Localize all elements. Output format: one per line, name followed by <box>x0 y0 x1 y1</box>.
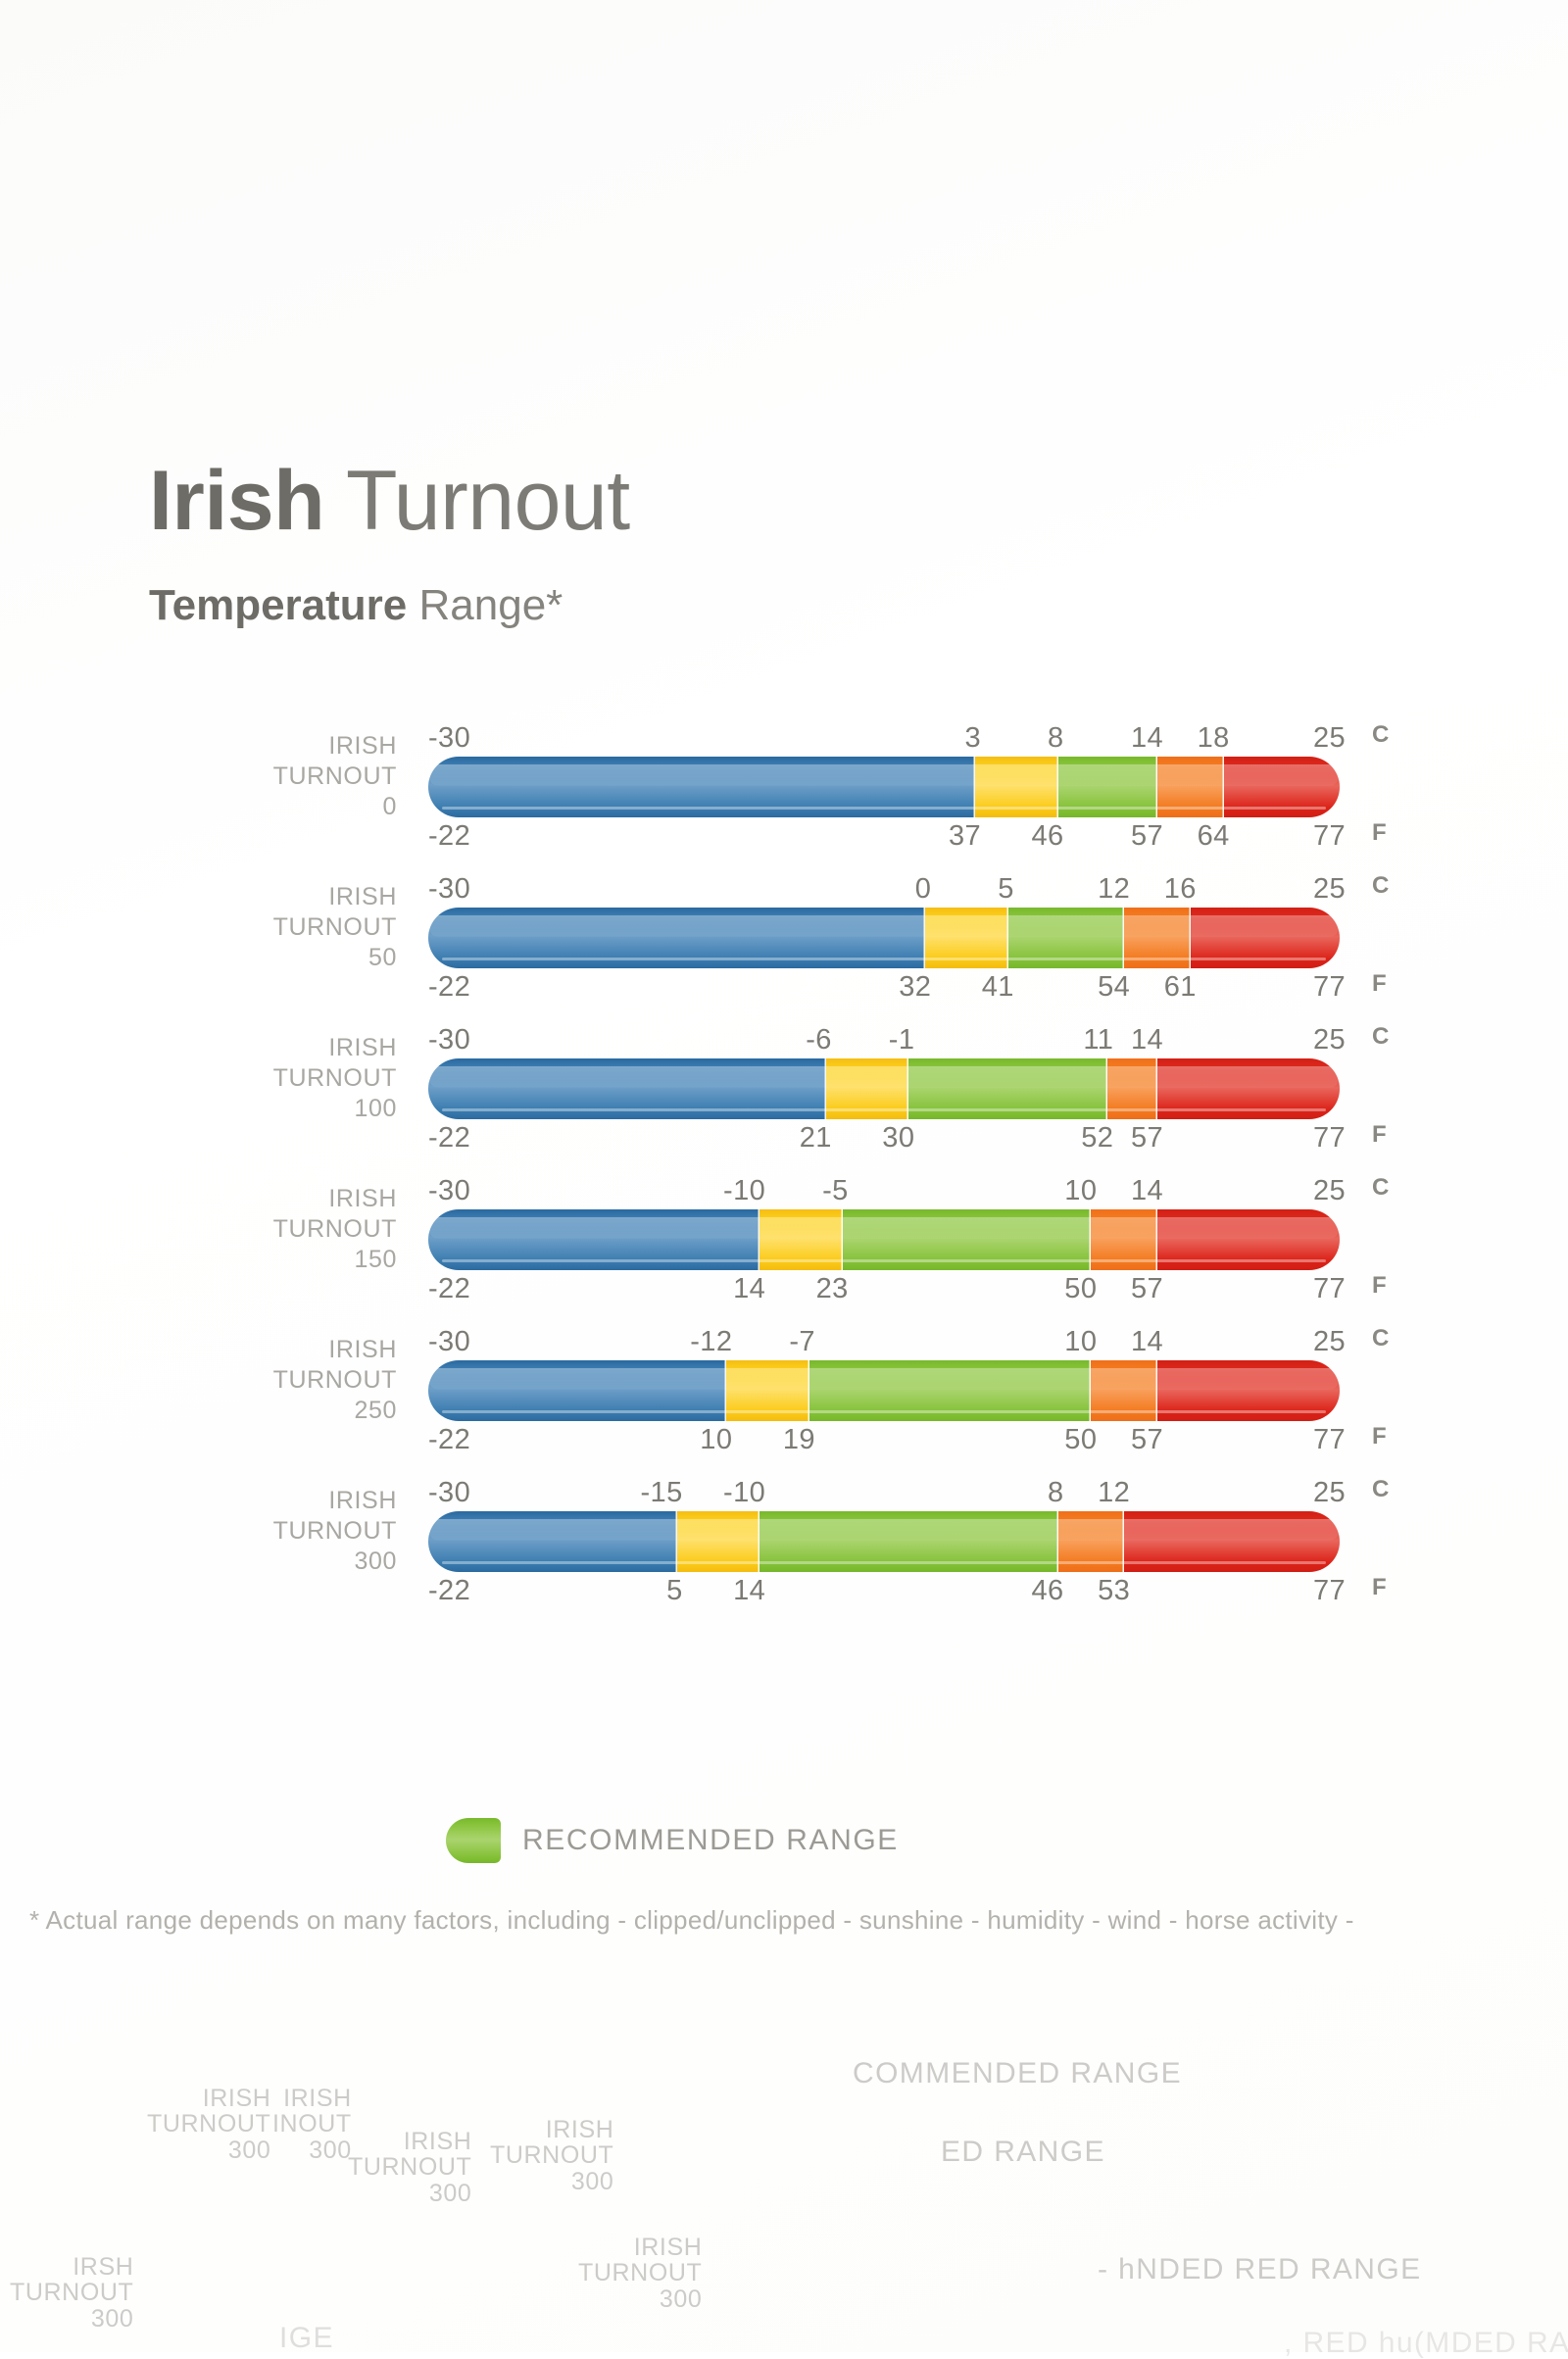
celsius-tick: -10 <box>723 1476 765 1509</box>
temperature-row: IRISHTURNOUT100-30-6-1111425-22213052577… <box>0 1023 1568 1174</box>
fahrenheit-tick: 32 <box>899 970 931 1004</box>
celsius-tick-row: -3005121625 <box>428 872 1340 906</box>
row-label-line: IRISH <box>103 1335 397 1365</box>
fahrenheit-tick: 41 <box>982 970 1014 1004</box>
bar-segment-yellow <box>759 1209 843 1270</box>
celsius-unit-marker: C <box>1372 721 1390 749</box>
bar-segment-red <box>1157 1058 1340 1119</box>
fahrenheit-tick-row: -223241546177 <box>428 970 1340 1004</box>
row-label-line: 150 <box>103 1245 397 1275</box>
ghost-text: IRSH TURNOUT 300 <box>10 2254 133 2332</box>
bar-segment-blue <box>428 757 975 817</box>
celsius-tick: 14 <box>1131 1174 1163 1207</box>
celsius-tick: 25 <box>1313 872 1346 906</box>
ghost-text: - hNDED RED RANGE <box>1098 2254 1422 2285</box>
fahrenheit-unit-marker: F <box>1372 1121 1387 1149</box>
row-label-line: IRISH <box>103 1184 397 1214</box>
fahrenheit-tick: 23 <box>816 1272 849 1305</box>
celsius-tick: -30 <box>428 1174 470 1207</box>
celsius-tick: 11 <box>1083 1023 1113 1057</box>
page-header: Irish Turnout Temperature Range* <box>149 459 630 627</box>
ghost-text: IRISH TURNOUT 300 <box>348 2129 471 2206</box>
row-label-line: IRISH <box>103 1033 397 1063</box>
row-label-line: 0 <box>103 792 397 822</box>
row-label-line: TURNOUT <box>103 1063 397 1094</box>
celsius-unit-marker: C <box>1372 1174 1390 1202</box>
fahrenheit-tick-row: -222130525777 <box>428 1121 1340 1155</box>
fahrenheit-tick: 54 <box>1098 970 1130 1004</box>
celsius-tick-row: -30-6-1111425 <box>428 1023 1340 1057</box>
fahrenheit-tick: 77 <box>1313 1574 1346 1607</box>
celsius-tick: 25 <box>1313 721 1346 755</box>
celsius-tick: 5 <box>998 872 1014 906</box>
temperature-row: IRISHTURNOUT250-30-12-7101425-2210195057… <box>0 1325 1568 1476</box>
celsius-unit-marker: C <box>1372 1325 1390 1352</box>
celsius-tick: 25 <box>1313 1325 1346 1358</box>
ghost-text: ED RANGE <box>941 2137 1105 2168</box>
bar-segment-green <box>908 1058 1107 1119</box>
bar-segment-green <box>1008 908 1124 968</box>
row-label-line: 250 <box>103 1396 397 1426</box>
temperature-range-chart: IRISHTURNOUT0-3038141825-223746576477CFI… <box>0 721 1568 1627</box>
fahrenheit-tick: 50 <box>1064 1272 1097 1305</box>
infographic-page: Irish Turnout Temperature Range* IRISHTU… <box>0 0 1568 2352</box>
celsius-tick: -6 <box>806 1023 832 1057</box>
fahrenheit-tick-row: -221423505777 <box>428 1272 1340 1305</box>
celsius-tick: 10 <box>1064 1174 1097 1207</box>
fahrenheit-tick: 53 <box>1098 1574 1130 1607</box>
bar-segment-orange <box>1157 757 1224 817</box>
bar-track <box>428 1511 1340 1572</box>
ghost-text: IRISH TURNOUT 300 <box>578 2235 702 2312</box>
fahrenheit-tick: 57 <box>1131 1121 1163 1155</box>
celsius-tick: 10 <box>1064 1325 1097 1358</box>
celsius-tick: -5 <box>822 1174 849 1207</box>
fahrenheit-tick: 61 <box>1164 970 1197 1004</box>
celsius-tick: 14 <box>1131 1023 1163 1057</box>
fahrenheit-tick: 77 <box>1313 1272 1346 1305</box>
bar-segment-red <box>1191 908 1340 968</box>
fahrenheit-tick: 64 <box>1198 819 1230 853</box>
chart-legend: RECOMMENDED RANGE <box>446 1818 899 1863</box>
page-subtitle-light: Range* <box>407 581 563 629</box>
fahrenheit-tick: 19 <box>783 1423 815 1456</box>
celsius-tick: 8 <box>1048 1476 1064 1509</box>
bar-track <box>428 1209 1340 1270</box>
bar-segment-blue <box>428 1511 677 1572</box>
bar-segment-green <box>1058 757 1157 817</box>
celsius-tick: 3 <box>964 721 981 755</box>
fahrenheit-tick: 30 <box>882 1121 914 1155</box>
fahrenheit-tick: -22 <box>428 1121 470 1155</box>
temperature-bar <box>428 1209 1340 1270</box>
celsius-tick: 0 <box>915 872 932 906</box>
fahrenheit-tick-row: -22514465377 <box>428 1574 1340 1607</box>
celsius-tick: -7 <box>789 1325 815 1358</box>
bar-segment-red <box>1124 1511 1340 1572</box>
temperature-bar <box>428 1058 1340 1119</box>
ghost-text: IRISH TURNOUT 300 <box>490 2117 613 2194</box>
row-label-line: IRISH <box>103 731 397 762</box>
bar-segment-green <box>759 1511 1057 1572</box>
row-label-line: TURNOUT <box>103 1516 397 1547</box>
legend-label: RECOMMENDED RANGE <box>522 1824 899 1857</box>
row-label-line: 100 <box>103 1094 397 1124</box>
row-label-line: IRISH <box>103 1486 397 1516</box>
celsius-tick: 12 <box>1098 1476 1130 1509</box>
row-label-100: IRISHTURNOUT100 <box>103 1033 397 1124</box>
bar-segment-blue <box>428 1360 726 1421</box>
row-label-line: TURNOUT <box>103 912 397 943</box>
celsius-tick: 12 <box>1098 872 1130 906</box>
row-label-50: IRISHTURNOUT50 <box>103 882 397 973</box>
celsius-tick-row: -30-12-7101425 <box>428 1325 1340 1358</box>
fahrenheit-tick: 57 <box>1131 1423 1163 1456</box>
bar-segment-yellow <box>677 1511 760 1572</box>
celsius-tick-row: -3038141825 <box>428 721 1340 755</box>
ghost-text: , RED hu(MDED RAN <box>1284 2328 1568 2359</box>
fahrenheit-unit-marker: F <box>1372 1574 1387 1601</box>
fahrenheit-tick: 37 <box>949 819 981 853</box>
fahrenheit-unit-marker: F <box>1372 970 1387 998</box>
fahrenheit-tick: 46 <box>1031 1574 1063 1607</box>
bar-track <box>428 908 1340 968</box>
bar-segment-red <box>1157 1360 1340 1421</box>
row-label-150: IRISHTURNOUT150 <box>103 1184 397 1275</box>
bar-segment-orange <box>1091 1209 1157 1270</box>
fahrenheit-tick: 14 <box>733 1574 765 1607</box>
bar-segment-green <box>809 1360 1091 1421</box>
temperature-row: IRISHTURNOUT300-30-15-1081225-2251446537… <box>0 1476 1568 1627</box>
fahrenheit-tick: 77 <box>1313 970 1346 1004</box>
page-title-light: Turnout <box>324 454 630 548</box>
bar-segment-orange <box>1124 908 1191 968</box>
celsius-tick: 16 <box>1164 872 1197 906</box>
fahrenheit-tick: -22 <box>428 1423 470 1456</box>
celsius-tick-row: -30-15-1081225 <box>428 1476 1340 1509</box>
row-label-300: IRISHTURNOUT300 <box>103 1486 397 1577</box>
ghost-text: IGE <box>279 2323 334 2354</box>
temperature-bar <box>428 1511 1340 1572</box>
fahrenheit-tick: 57 <box>1131 819 1163 853</box>
row-label-250: IRISHTURNOUT250 <box>103 1335 397 1426</box>
bar-segment-yellow <box>826 1058 909 1119</box>
page-title: Irish Turnout <box>149 459 630 543</box>
celsius-tick: -30 <box>428 872 470 906</box>
celsius-tick: -1 <box>889 1023 915 1057</box>
temperature-bar <box>428 1360 1340 1421</box>
celsius-tick: -15 <box>641 1476 683 1509</box>
celsius-unit-marker: C <box>1372 872 1390 900</box>
fahrenheit-tick: -22 <box>428 1574 470 1607</box>
bar-segment-green <box>843 1209 1092 1270</box>
bar-segment-orange <box>1091 1360 1157 1421</box>
bar-segment-blue <box>428 1209 759 1270</box>
fahrenheit-tick: 46 <box>1031 819 1063 853</box>
page-subtitle-bold: Temperature <box>149 581 407 629</box>
celsius-tick: -30 <box>428 721 470 755</box>
fahrenheit-tick: 14 <box>733 1272 765 1305</box>
fahrenheit-tick: -22 <box>428 1272 470 1305</box>
celsius-tick-row: -30-10-5101425 <box>428 1174 1340 1207</box>
bar-segment-blue <box>428 1058 826 1119</box>
celsius-tick: -12 <box>690 1325 732 1358</box>
fahrenheit-tick: 77 <box>1313 819 1346 853</box>
fahrenheit-tick-row: -221019505777 <box>428 1423 1340 1456</box>
fahrenheit-tick: 52 <box>1081 1121 1113 1155</box>
fahrenheit-tick: 5 <box>666 1574 683 1607</box>
temperature-row: IRISHTURNOUT150-30-10-5101425-2214235057… <box>0 1174 1568 1325</box>
temperature-row: IRISHTURNOUT0-3038141825-223746576477CF <box>0 721 1568 872</box>
row-label-line: TURNOUT <box>103 762 397 792</box>
bar-segment-yellow <box>726 1360 809 1421</box>
celsius-tick: 25 <box>1313 1476 1346 1509</box>
ghost-text: IRISH TURNOUT 300 <box>147 2086 270 2163</box>
fahrenheit-tick: 50 <box>1064 1423 1097 1456</box>
celsius-tick: 14 <box>1131 1325 1163 1358</box>
ghost-text: COMMENDED RANGE <box>853 2058 1182 2089</box>
celsius-unit-marker: C <box>1372 1023 1390 1051</box>
bar-track <box>428 1360 1340 1421</box>
celsius-tick: 8 <box>1048 721 1064 755</box>
temperature-row: IRISHTURNOUT50-3005121625-223241546177CF <box>0 872 1568 1023</box>
bar-track <box>428 757 1340 817</box>
ghost-text: IRISH INOUT 300 <box>272 2086 352 2163</box>
fahrenheit-tick: -22 <box>428 970 470 1004</box>
row-label-line: 300 <box>103 1547 397 1577</box>
celsius-tick: 25 <box>1313 1023 1346 1057</box>
row-label-0: IRISHTURNOUT0 <box>103 731 397 822</box>
fahrenheit-tick: 21 <box>800 1121 832 1155</box>
row-label-line: IRISH <box>103 882 397 912</box>
fahrenheit-tick-row: -223746576477 <box>428 819 1340 853</box>
bar-segment-red <box>1224 757 1340 817</box>
bar-segment-orange <box>1107 1058 1157 1119</box>
bar-segment-blue <box>428 908 925 968</box>
row-label-line: TURNOUT <box>103 1214 397 1245</box>
recommended-range-swatch-icon <box>446 1818 501 1863</box>
page-subtitle: Temperature Range* <box>149 584 630 627</box>
fahrenheit-tick: -22 <box>428 819 470 853</box>
celsius-tick: -10 <box>723 1174 765 1207</box>
fahrenheit-unit-marker: F <box>1372 1423 1387 1450</box>
celsius-tick: -30 <box>428 1476 470 1509</box>
page-title-bold: Irish <box>149 454 324 548</box>
celsius-tick: -30 <box>428 1325 470 1358</box>
celsius-tick: 25 <box>1313 1174 1346 1207</box>
fahrenheit-tick: 10 <box>700 1423 732 1456</box>
temperature-bar <box>428 757 1340 817</box>
celsius-tick: 18 <box>1198 721 1230 755</box>
footnote: * Actual range depends on many factors, … <box>29 1905 1568 1936</box>
bar-track <box>428 1058 1340 1119</box>
celsius-tick: -30 <box>428 1023 470 1057</box>
bar-segment-red <box>1157 1209 1340 1270</box>
bar-segment-yellow <box>925 908 1008 968</box>
fahrenheit-unit-marker: F <box>1372 1272 1387 1300</box>
fahrenheit-tick: 77 <box>1313 1423 1346 1456</box>
fahrenheit-tick: 57 <box>1131 1272 1163 1305</box>
bar-segment-orange <box>1058 1511 1125 1572</box>
bar-segment-yellow <box>975 757 1058 817</box>
temperature-bar <box>428 908 1340 968</box>
row-label-line: 50 <box>103 943 397 973</box>
fahrenheit-tick: 77 <box>1313 1121 1346 1155</box>
celsius-tick: 14 <box>1131 721 1163 755</box>
celsius-unit-marker: C <box>1372 1476 1390 1503</box>
fahrenheit-unit-marker: F <box>1372 819 1387 847</box>
row-label-line: TURNOUT <box>103 1365 397 1396</box>
